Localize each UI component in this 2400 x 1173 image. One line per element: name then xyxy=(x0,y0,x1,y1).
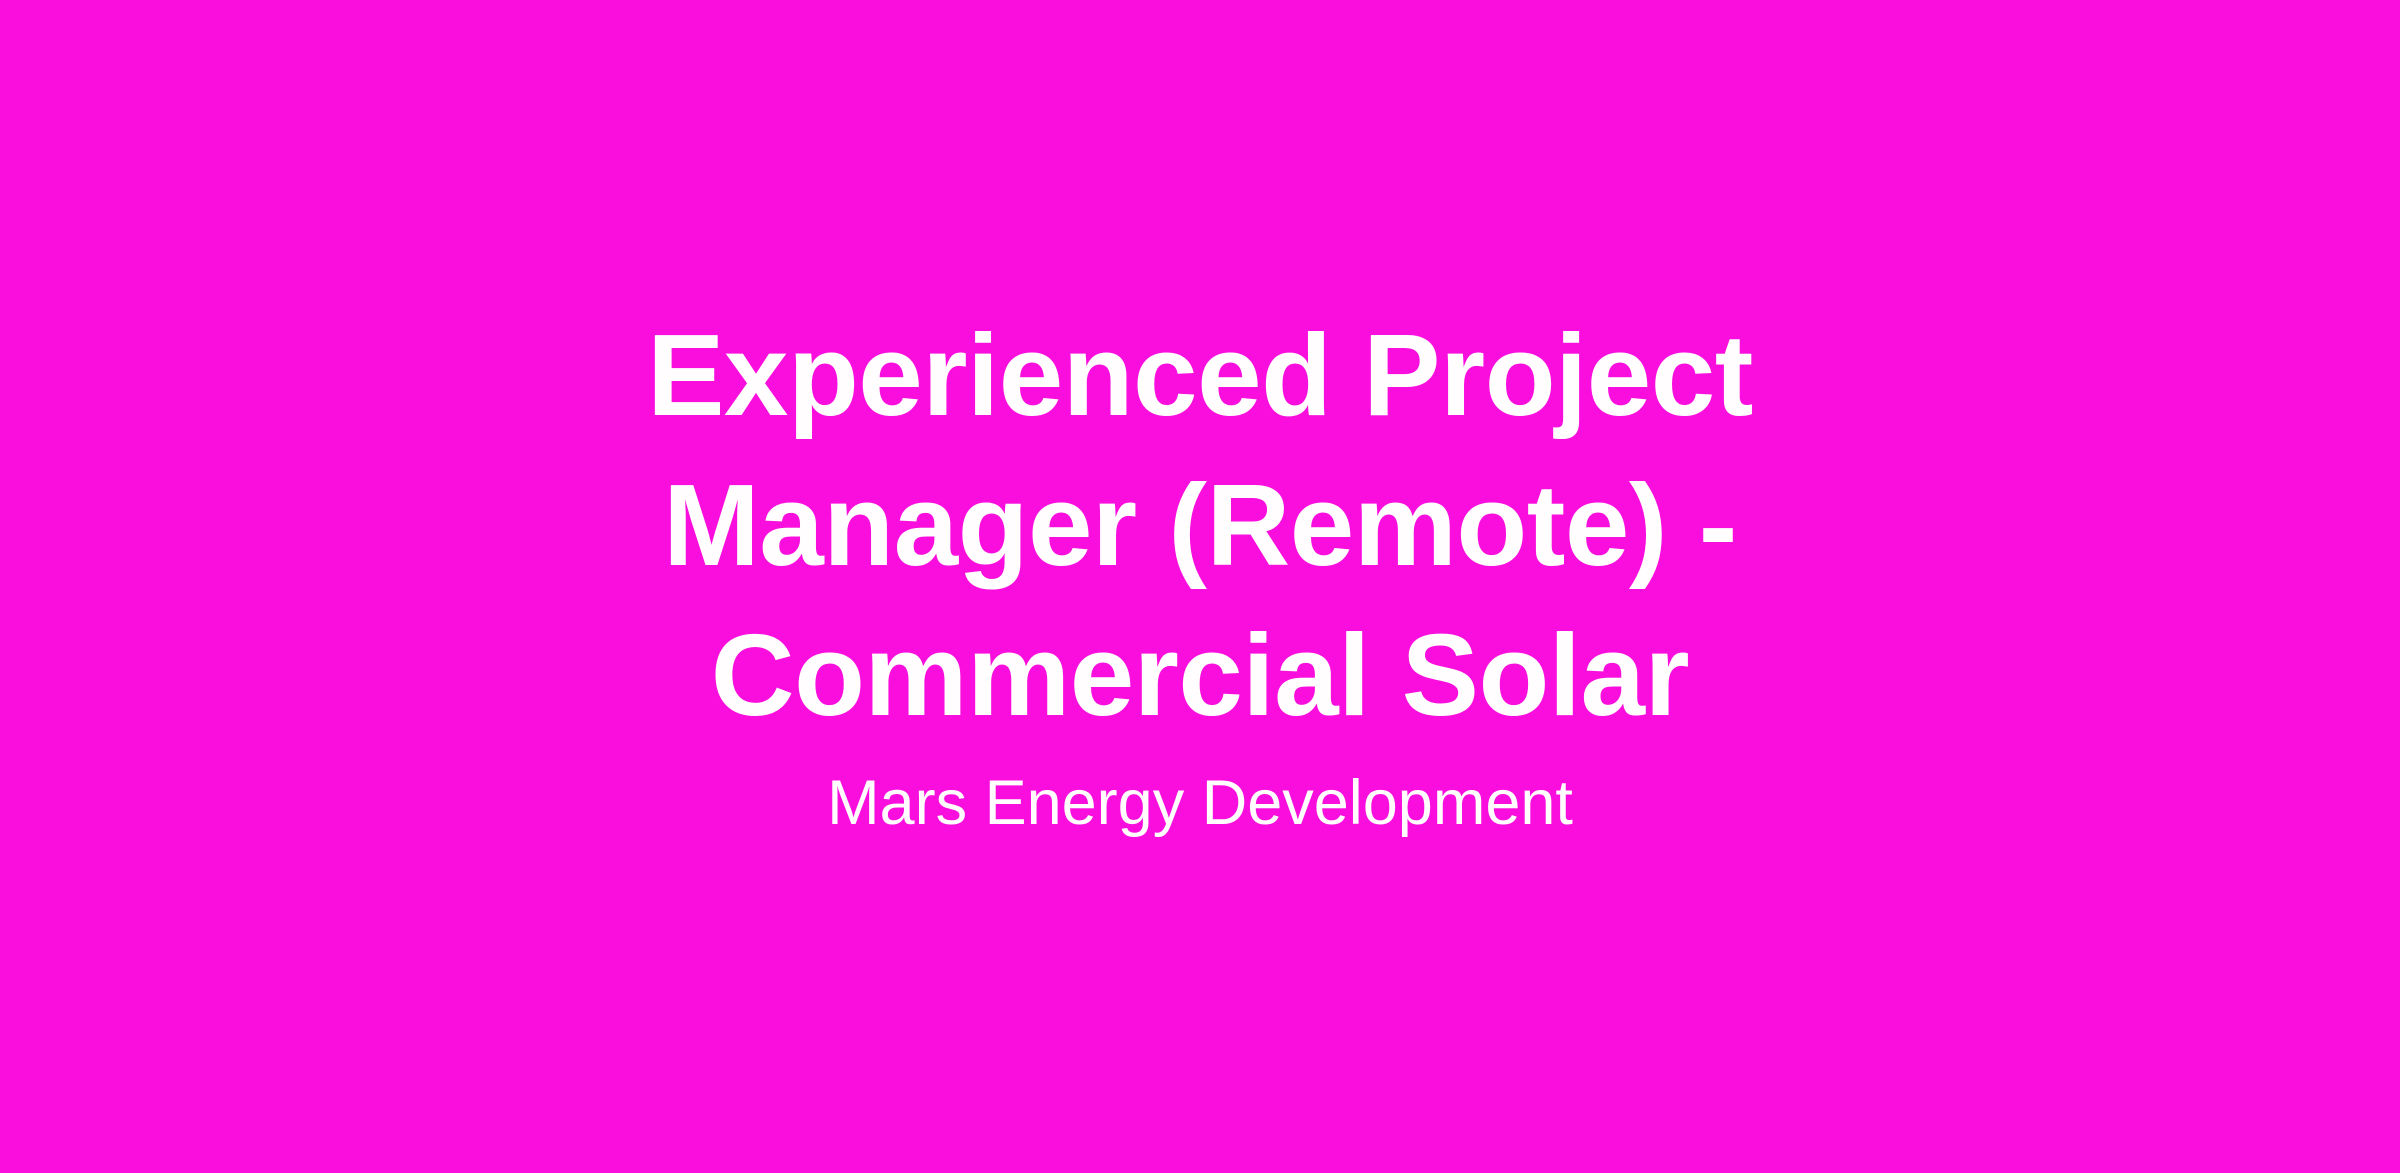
job-posting-card: Experienced Project Manager (Remote) - C… xyxy=(0,0,2400,1173)
company-name: Mars Energy Development xyxy=(605,764,1795,842)
job-posting-text-block: Experienced Project Manager (Remote) - C… xyxy=(600,300,1800,842)
job-title: Experienced Project Manager (Remote) - C… xyxy=(605,300,1795,750)
